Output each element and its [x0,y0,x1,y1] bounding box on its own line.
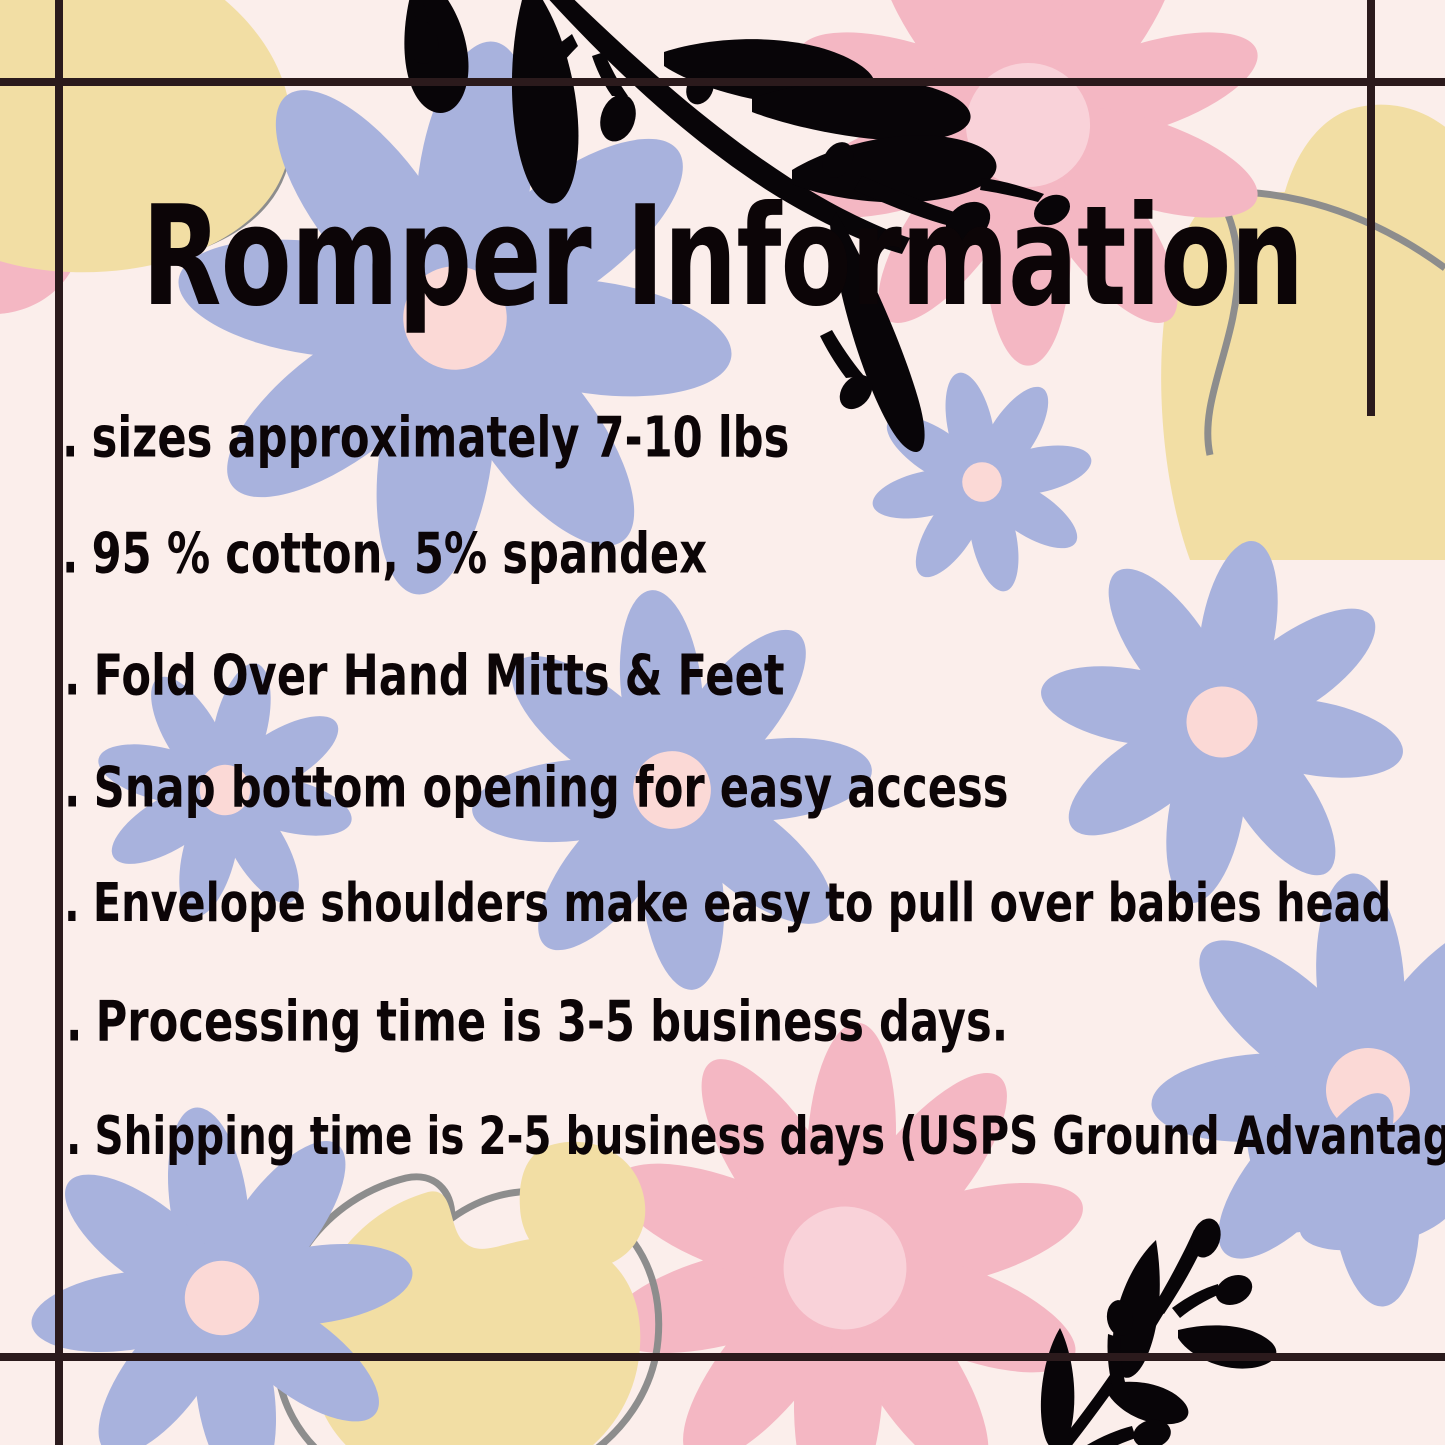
list-item: . 95 % cotton, 5% spandex [62,525,707,581]
list-item: . Snap bottom opening for easy access [64,759,1009,815]
poster-content: Romper Information . sizes approximately… [0,0,1445,1445]
bullet-marker: . [66,1111,81,1163]
bullet-text: sizes approximately 7-10 lbs [92,409,790,465]
bullet-marker: . [64,759,80,815]
list-item: . sizes approximately 7-10 lbs [62,409,789,465]
bullet-marker: . [66,993,82,1049]
bullet-marker: . [62,525,78,581]
bullet-text: Envelope shoulders make easy to pull ove… [93,877,1391,931]
bullet-text: Fold Over Hand Mitts & Feet [94,647,785,703]
page-title: Romper Information [29,185,1416,330]
list-item: . Shipping time is 2-5 business days (US… [66,1111,1445,1163]
bullet-text: Snap bottom opening for easy access [94,759,1009,815]
list-item: . Envelope shoulders make easy to pull o… [64,877,1391,931]
bullet-marker: . [62,409,78,465]
list-item: . Processing time is 3-5 business days. [66,993,1008,1049]
bullet-text: Processing time is 3-5 business days. [96,993,1009,1049]
bullet-marker: . [64,877,80,931]
bullet-text: 95 % cotton, 5% spandex [92,525,708,581]
list-item: . Fold Over Hand Mitts & Feet [64,647,785,703]
bullet-marker: . [64,647,80,703]
poster-canvas: Romper Information . sizes approximately… [0,0,1445,1445]
bullet-text: Shipping time is 2-5 business days (USPS… [95,1111,1445,1163]
